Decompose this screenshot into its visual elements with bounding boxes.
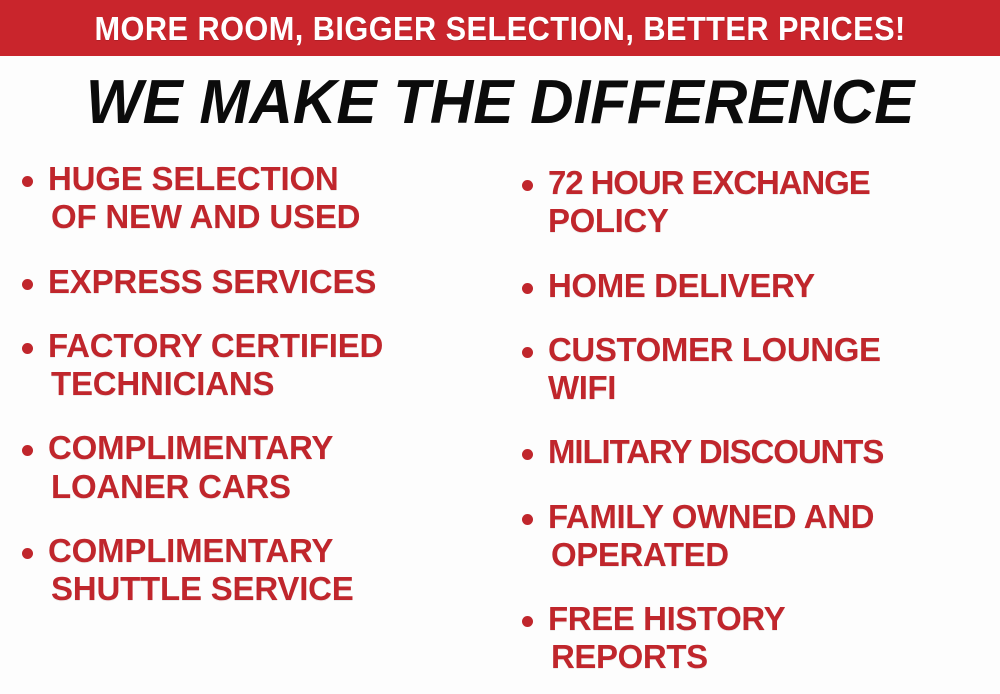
benefits-column-right: 72 HOUR EXCHANGE POLICY HOME DELIVERY CU… <box>500 152 1000 694</box>
list-item: 72 HOUR EXCHANGE POLICY <box>522 164 1000 241</box>
bullet-dot-icon <box>522 616 533 627</box>
list-item-line: REPORTS <box>548 638 785 676</box>
bullet-dot-icon <box>22 343 33 354</box>
list-item: FACTORY CERTIFIED TECHNICIANS <box>22 327 500 404</box>
list-item-line: FAMILY OWNED AND <box>548 498 874 536</box>
list-item: HOME DELIVERY <box>522 267 1000 305</box>
benefits-column-left: HUGE SELECTION OF NEW AND USED EXPRESS S… <box>0 152 500 694</box>
list-item-text: COMPLIMENTARY LOANER CARS <box>48 429 333 506</box>
list-item-line: CUSTOMER LOUNGE <box>548 331 881 369</box>
bullet-dot-icon <box>22 445 33 456</box>
list-item-text: MILITARY DISCOUNTS <box>548 433 883 471</box>
list-item-line: OF NEW AND USED <box>48 198 360 236</box>
list-item-text: FAMILY OWNED AND OPERATED <box>548 498 874 575</box>
list-item-text: COMPLIMENTARY SHUTTLE SERVICE <box>48 532 354 609</box>
list-item: CUSTOMER LOUNGE WIFI <box>522 331 1000 408</box>
list-item-text: HUGE SELECTION OF NEW AND USED <box>48 160 360 237</box>
list-item: FREE HISTORY REPORTS <box>522 600 1000 677</box>
bullet-dot-icon <box>522 347 533 358</box>
list-item: HUGE SELECTION OF NEW AND USED <box>22 160 500 237</box>
headline-text: WE MAKE THE DIFFERENCE <box>86 72 915 134</box>
list-item: EXPRESS SERVICES <box>22 263 500 301</box>
list-item-line: POLICY <box>548 202 870 240</box>
bullet-dot-icon <box>522 283 533 294</box>
promo-banner-text: MORE ROOM, BIGGER SELECTION, BETTER PRIC… <box>94 12 905 45</box>
list-item-text: EXPRESS SERVICES <box>48 263 376 301</box>
list-item-text: HOME DELIVERY <box>548 267 815 305</box>
bullet-dot-icon <box>22 279 33 290</box>
bullet-dot-icon <box>22 176 33 187</box>
list-item-line: 72 HOUR EXCHANGE <box>548 164 870 202</box>
list-item-line: SHUTTLE SERVICE <box>48 570 354 608</box>
benefits-columns: HUGE SELECTION OF NEW AND USED EXPRESS S… <box>0 152 1000 694</box>
list-item-line: COMPLIMENTARY <box>48 532 354 570</box>
list-item-text: 72 HOUR EXCHANGE POLICY <box>548 164 870 241</box>
bullet-dot-icon <box>522 180 533 191</box>
list-item-line: FACTORY CERTIFIED <box>48 327 383 365</box>
list-item-line: WIFI <box>548 369 881 407</box>
list-item-line: HUGE SELECTION <box>48 160 360 198</box>
list-item-text: FACTORY CERTIFIED TECHNICIANS <box>48 327 383 404</box>
bullet-dot-icon <box>522 514 533 525</box>
list-item-line: LOANER CARS <box>48 468 333 506</box>
list-item-line: MILITARY DISCOUNTS <box>548 433 883 471</box>
list-item-line: HOME DELIVERY <box>548 267 815 305</box>
list-item-line: TECHNICIANS <box>48 365 383 403</box>
list-item: COMPLIMENTARY SHUTTLE SERVICE <box>22 532 500 609</box>
list-item-text: FREE HISTORY REPORTS <box>548 600 785 677</box>
bullet-dot-icon <box>22 548 33 559</box>
bullet-dot-icon <box>522 449 533 460</box>
list-item: MILITARY DISCOUNTS <box>522 433 1000 471</box>
list-item-line: EXPRESS SERVICES <box>48 263 376 301</box>
list-item-line: FREE HISTORY <box>548 600 785 638</box>
headline: WE MAKE THE DIFFERENCE <box>0 62 1000 144</box>
list-item-text: CUSTOMER LOUNGE WIFI <box>548 331 881 408</box>
list-item: FAMILY OWNED AND OPERATED <box>522 498 1000 575</box>
list-item: COMPLIMENTARY LOANER CARS <box>22 429 500 506</box>
list-item-line: COMPLIMENTARY <box>48 429 333 467</box>
promo-banner: MORE ROOM, BIGGER SELECTION, BETTER PRIC… <box>0 0 1000 56</box>
list-item-line: OPERATED <box>548 536 874 574</box>
